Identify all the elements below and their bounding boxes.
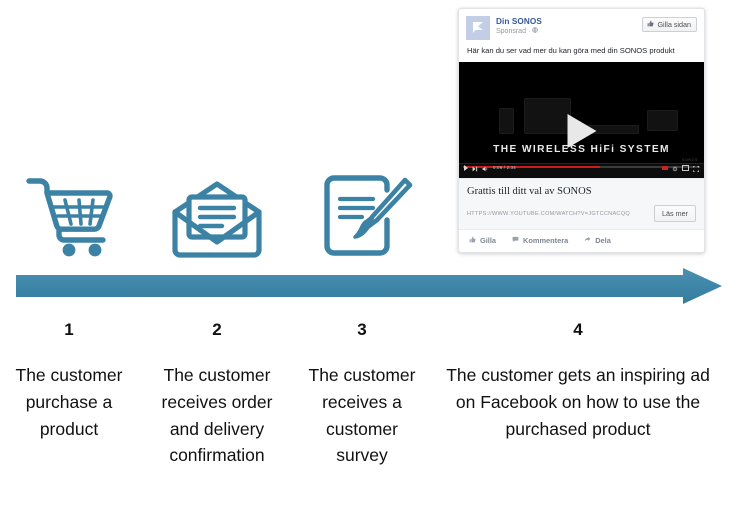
page-avatar[interactable] [466,16,490,40]
open-envelope-icon [169,180,265,265]
like-action-button[interactable]: Gilla [469,236,496,245]
survey-form-pen-icon [315,174,415,265]
theater-mode-icon[interactable] [682,165,689,171]
comment-bubble-icon [512,236,519,245]
sponsored-line: Sponsrad · [496,27,642,36]
globe-icon [532,27,538,36]
play-button-icon[interactable] [567,114,596,148]
share-action-button[interactable]: Dela [584,236,611,245]
post-body-text: Här kan du ser vad mer du kan göra med d… [459,44,704,62]
share-action-label: Dela [595,236,611,245]
video-frame-content: THE WIRELESS HiFi SYSTEM [459,80,704,160]
thumbs-up-icon [469,236,476,245]
step-3-icon-slot [310,160,420,265]
comment-action-button[interactable]: Kommentera [512,236,568,245]
video-tagline: THE WIRELESS HiFi SYSTEM [459,144,704,155]
step-number-1: 1 [9,320,129,340]
speaker-silhouette [524,98,571,134]
sponsored-label: Sponsrad [496,27,526,36]
customer-journey-diagram: 1 2 3 4 The customer purchase a product … [0,0,740,517]
step-number-2: 2 [157,320,277,340]
video-controls-right [662,159,699,177]
video-time: 0:08 / 2:34 [493,165,516,170]
volume-icon[interactable] [482,159,489,177]
step-caption-4: The customer gets an inspiring ad on Fac… [438,362,718,442]
step-caption-3: The customer receives a customer survey [302,362,422,469]
shopping-cart-icon [21,168,117,265]
share-arrow-icon [584,236,591,245]
step-caption-1: The customer purchase a product [9,362,129,442]
like-page-button[interactable]: Gilla sidan [642,17,697,32]
page-name-link[interactable]: Din SONOS [496,17,642,26]
thumbs-up-icon [647,20,654,29]
speaker-silhouette [647,110,678,131]
captions-icon[interactable] [662,166,668,170]
separator-dot: · [528,27,530,36]
attachment-title[interactable]: Grattis till ditt val av SONOS [467,186,696,199]
read-more-button[interactable]: Läs mer [654,205,696,222]
fullscreen-icon[interactable] [693,159,699,177]
comment-action-label: Kommentera [523,236,568,245]
attachment-url: HTTPS://WWW.YOUTUBE.COM/WATCH?V=JGTCCNAC… [467,211,630,217]
page-identity: Din SONOS Sponsrad · [496,16,642,37]
play-icon[interactable] [464,165,468,171]
link-attachment[interactable]: Grattis till ditt val av SONOS HTTPS://W… [459,178,704,230]
video-controls-left: 0:08 / 2:34 [464,159,516,177]
step-number-3: 3 [302,320,422,340]
next-track-icon[interactable] [472,159,478,177]
video-player[interactable]: THE WIRELESS HiFi SYSTEM SONOS [459,62,704,178]
post-action-bar: Gilla Kommentera Dela [459,229,704,252]
video-control-bar[interactable]: 0:08 / 2:34 [459,163,704,178]
facebook-ad-card: Din SONOS Sponsrad · [458,8,705,253]
like-page-label: Gilla sidan [657,20,691,29]
settings-gear-icon[interactable] [672,159,678,177]
speaker-silhouette [499,108,514,134]
step-2-icon-slot [162,160,272,265]
facebook-post-header: Din SONOS Sponsrad · [459,9,704,44]
step-1-icon-slot [14,160,124,265]
process-arrow [16,268,722,304]
step-caption-2: The customer receives order and delivery… [149,362,285,469]
like-action-label: Gilla [480,236,496,245]
step-number-4: 4 [518,320,638,340]
attachment-meta-row: HTTPS://WWW.YOUTUBE.COM/WATCH?V=JGTCCNAC… [467,205,696,222]
